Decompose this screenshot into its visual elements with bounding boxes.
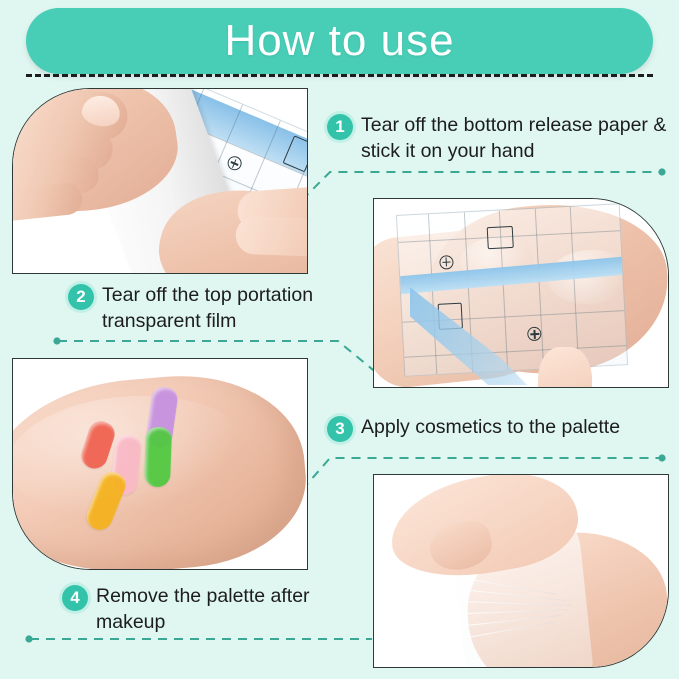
step-2-text: Tear off the top portation transparent f…: [102, 282, 358, 334]
photo-step-1: [12, 88, 308, 274]
applied-film: [396, 203, 628, 377]
photo-step-3: [12, 358, 308, 570]
step-4-text: Remove the palette after makeup: [96, 583, 362, 635]
step-1-badge: 1: [327, 114, 353, 140]
peeling-finger: [538, 347, 592, 388]
step-3-badge: 3: [327, 416, 353, 442]
right-middle-finger: [235, 216, 308, 258]
step-2: 2 Tear off the top portation transparent…: [68, 282, 358, 334]
photo-step-4-scene: [374, 475, 668, 667]
left-little-finger: [12, 181, 84, 224]
connector-step-2-dot: [53, 337, 60, 344]
photo-step-1-scene: [13, 89, 307, 273]
step-3: 3 Apply cosmetics to the palette: [327, 414, 667, 442]
connector-step-1-dot: [658, 168, 665, 175]
photo-step-2: [373, 198, 669, 388]
connector-step-3-dot: [658, 454, 665, 461]
page-title: How to use: [224, 19, 454, 63]
film-pictogram-no-reuse: [225, 154, 243, 172]
connector-step-4-dot: [25, 635, 32, 642]
infographic-page: How to use: [0, 0, 679, 679]
step-1: 1 Tear off the bottom release paper & st…: [327, 112, 667, 164]
header-banner: How to use: [26, 8, 653, 74]
step-2-badge: 2: [68, 284, 94, 310]
step-4-badge: 4: [62, 585, 88, 611]
photo-step-2-scene: [374, 199, 668, 387]
green-swatch: [144, 427, 172, 488]
film-pictogram-door: [486, 226, 513, 249]
step-3-text: Apply cosmetics to the palette: [361, 414, 620, 440]
film-pictogram-no-reuse-2: [527, 327, 542, 342]
film-pictogram-no-reuse: [439, 255, 454, 270]
step-4: 4 Remove the palette after makeup: [62, 583, 362, 635]
photo-step-4: [373, 474, 669, 668]
photo-step-3-scene: [13, 359, 307, 569]
header-divider: [26, 74, 653, 77]
step-1-text: Tear off the bottom release paper & stic…: [361, 112, 667, 164]
connector-step-1: [302, 172, 660, 200]
